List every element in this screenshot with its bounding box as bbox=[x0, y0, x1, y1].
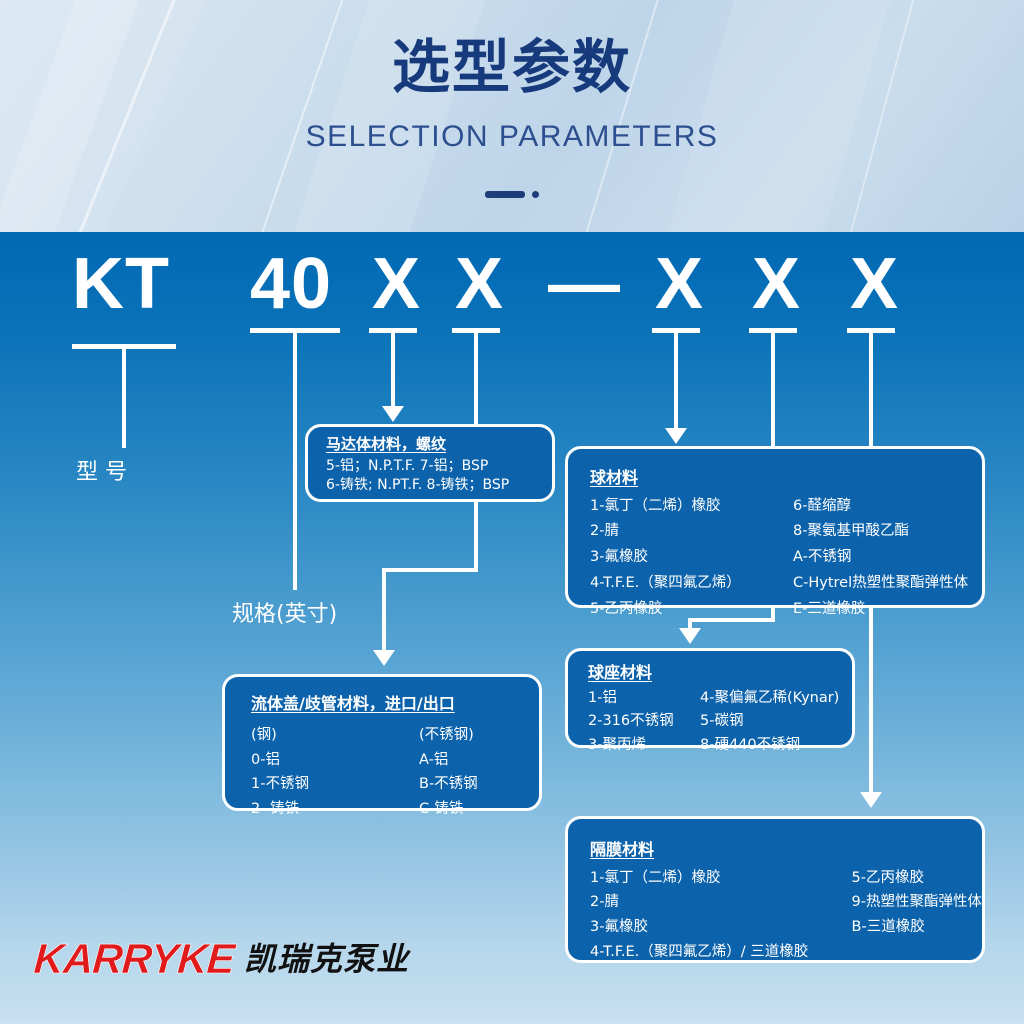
callout-ball-item: 1-氯丁（二烯）橡胶 bbox=[590, 494, 793, 520]
connector-motor-line bbox=[391, 332, 395, 408]
callout-diaphragm-material: 隔膜材料 1-氯丁（二烯）橡胶 2-腈 3-氟橡胶 4-T.F.E.（聚四氟乙烯… bbox=[565, 816, 985, 963]
label-size: 规格(英寸) bbox=[232, 596, 337, 628]
callout-seat-item: 8-硬440不锈钢 bbox=[700, 734, 839, 757]
callout-seat-column-right: 4-聚偏氟乙稀(Kynar) 5-碳钢 8-硬440不锈钢 bbox=[700, 687, 839, 757]
connector-model bbox=[122, 348, 126, 448]
connector-size bbox=[293, 332, 297, 590]
connector-motor-arrow bbox=[382, 406, 404, 422]
callout-fluid-item: B-不锈钢 bbox=[419, 772, 478, 797]
callout-ball-material: 球材料 1-氯丁（二烯）橡胶 2-腈 3-氟橡胶 4-T.F.E.（聚四氟乙烯）… bbox=[565, 446, 985, 608]
callout-fluid-column-right: (不锈钢) A-铝 B-不锈钢 C-铸铁 bbox=[419, 723, 478, 823]
callout-ball-column-right: 6-醛缩醇 8-聚氨基甲酸乙酯 A-不锈钢 C-Hytrel热塑性聚酯弹性体 E… bbox=[793, 494, 968, 623]
callout-diaphragm-item: 2-腈 bbox=[590, 890, 852, 915]
connector-ball-line bbox=[674, 332, 678, 430]
code-segment-motor: X bbox=[372, 248, 421, 320]
callout-ball-column-left: 1-氯丁（二烯）橡胶 2-腈 3-氟橡胶 4-T.F.E.（聚四氟乙烯） 5-乙… bbox=[590, 494, 793, 623]
callout-seat-material: 球座材料 1-铝 2-316不锈钢 3-聚丙烯 4-聚偏氟乙稀(Kynar) 5… bbox=[565, 648, 855, 748]
callout-fluid-item: 1-不锈钢 bbox=[251, 772, 419, 797]
callout-diaphragm-column-right: 5-乙丙橡胶 9-热塑性聚酯弹性体 B-三道橡胶 bbox=[852, 866, 982, 965]
connector-diaph-arrow bbox=[860, 792, 882, 808]
callout-ball-item: 6-醛缩醇 bbox=[793, 494, 968, 520]
callout-diaphragm-column-left: 1-氯丁（二烯）橡胶 2-腈 3-氟橡胶 4-T.F.E.（聚四氟乙烯）/ 三道… bbox=[590, 866, 852, 965]
title-divider bbox=[0, 188, 1024, 200]
callout-motor-line-1: 5-铝；N.P.T.F. 7-铝；BSP bbox=[326, 457, 552, 477]
callout-diaphragm-item: 1-氯丁（二烯）橡胶 bbox=[590, 866, 852, 891]
callout-fluid-item: 2- 铸铁 bbox=[251, 797, 419, 822]
callout-fluid-title: 流体盖/歧管材料，进口/出口 bbox=[251, 695, 539, 713]
callout-ball-item: 4-T.F.E.（聚四氟乙烯） bbox=[590, 571, 793, 597]
callout-fluid-column-left: (钢) 0-铝 1-不锈钢 2- 铸铁 bbox=[251, 723, 419, 823]
page-header: 选型参数 SELECTION PARAMETERS bbox=[0, 0, 1024, 232]
callout-ball-item: C-Hytrel热塑性聚酯弹性体 bbox=[793, 571, 968, 597]
callout-fluid-item: C-铸铁 bbox=[419, 797, 478, 822]
callout-fluid-material: 流体盖/歧管材料，进口/出口 (钢) 0-铝 1-不锈钢 2- 铸铁 (不锈钢)… bbox=[222, 674, 542, 811]
callout-diaphragm-columns: 1-氯丁（二烯）橡胶 2-腈 3-氟橡胶 4-T.F.E.（聚四氟乙烯）/ 三道… bbox=[590, 866, 982, 965]
callout-seat-item: 4-聚偏氟乙稀(Kynar) bbox=[700, 687, 839, 710]
page-title-chinese: 选型参数 bbox=[0, 38, 1024, 96]
code-segment-kt: KT bbox=[72, 248, 170, 320]
callout-diaphragm-item: 4-T.F.E.（聚四氟乙烯）/ 三道橡胶 bbox=[590, 940, 852, 965]
callout-ball-item: E-三道橡胶 bbox=[793, 597, 968, 623]
callout-motor-line-2: 6-铸铁; N.PT.F. 8-铸铁；BSP bbox=[326, 476, 552, 496]
callout-ball-item: 2-腈 bbox=[590, 519, 793, 545]
divider-bar-icon bbox=[485, 191, 525, 198]
brand-wordmark: KARRYKE bbox=[33, 938, 236, 980]
callout-seat-item: 2-316不锈钢 bbox=[588, 710, 700, 733]
code-segment-diaph: X bbox=[850, 248, 899, 320]
callout-diaphragm-item: 9-热塑性聚酯弹性体 bbox=[852, 890, 982, 915]
callout-seat-columns: 1-铝 2-316不锈钢 3-聚丙烯 4-聚偏氟乙稀(Kynar) 5-碳钢 8… bbox=[588, 687, 852, 757]
callout-ball-item: 8-聚氨基甲酸乙酯 bbox=[793, 519, 968, 545]
callout-seat-column-left: 1-铝 2-316不锈钢 3-聚丙烯 bbox=[588, 687, 700, 757]
label-model: 型 号 bbox=[76, 454, 127, 486]
connector-seat-arrow bbox=[679, 628, 701, 644]
code-segment-dash: — bbox=[548, 248, 621, 320]
callout-diaphragm-title: 隔膜材料 bbox=[590, 841, 982, 859]
callout-seat-title: 球座材料 bbox=[588, 664, 852, 682]
callout-diaphragm-item: 5-乙丙橡胶 bbox=[852, 866, 982, 891]
callout-seat-item: 5-碳钢 bbox=[700, 710, 839, 733]
callout-ball-item: 5-乙丙橡胶 bbox=[590, 597, 793, 623]
callout-ball-columns: 1-氯丁（二烯）橡胶 2-腈 3-氟橡胶 4-T.F.E.（聚四氟乙烯） 5-乙… bbox=[590, 494, 982, 623]
callout-diaphragm-item: B-三道橡胶 bbox=[852, 915, 982, 940]
callout-diaphragm-item: 3-氟橡胶 bbox=[590, 915, 852, 940]
callout-fluid-columns: (钢) 0-铝 1-不锈钢 2- 铸铁 (不锈钢) A-铝 B-不锈钢 C-铸铁 bbox=[251, 723, 539, 823]
company-logo: KARRYKE 凯瑞克泵业 bbox=[34, 938, 409, 980]
callout-ball-title: 球材料 bbox=[590, 469, 982, 487]
code-segment-seat: X bbox=[752, 248, 801, 320]
callout-ball-item: A-不锈钢 bbox=[793, 545, 968, 571]
callout-fluid-item: 0-铝 bbox=[251, 748, 419, 773]
connector-ball-arrow bbox=[665, 428, 687, 444]
callout-ball-item: 3-氟橡胶 bbox=[590, 545, 793, 571]
brand-wordmark-chinese: 凯瑞克泵业 bbox=[244, 943, 409, 975]
callout-seat-item: 3-聚丙烯 bbox=[588, 734, 700, 757]
callout-motor-material: 马达体材料，螺纹 5-铝；N.P.T.F. 7-铝；BSP 6-铸铁; N.PT… bbox=[305, 424, 555, 502]
connector-fluid-arrow bbox=[373, 650, 395, 666]
callout-fluid-item: (钢) bbox=[251, 723, 419, 748]
callout-motor-title: 马达体材料，螺纹 bbox=[326, 436, 552, 453]
code-segment-size: 40 bbox=[250, 248, 332, 320]
connector-fluid-line-c bbox=[382, 568, 386, 652]
callout-seat-item: 1-铝 bbox=[588, 687, 700, 710]
selection-parameters-page: 选型参数 SELECTION PARAMETERS KT 40 X X — X … bbox=[0, 0, 1024, 1024]
divider-dot-icon bbox=[532, 191, 539, 198]
connector-fluid-line-b bbox=[382, 568, 478, 572]
diagram-area: KT 40 X X — X X X 型 号 规格(英寸) bbox=[0, 232, 1024, 1024]
code-segment-ball: X bbox=[655, 248, 704, 320]
code-segment-fluid: X bbox=[455, 248, 504, 320]
page-title-english: SELECTION PARAMETERS bbox=[0, 122, 1024, 152]
callout-fluid-item: A-铝 bbox=[419, 748, 478, 773]
connector-diaph-line-b bbox=[869, 618, 873, 794]
callout-fluid-item: (不锈钢) bbox=[419, 723, 478, 748]
